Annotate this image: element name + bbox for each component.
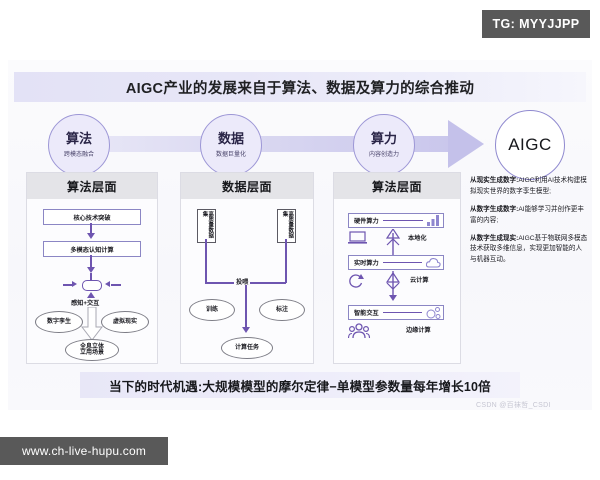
arrow-down-icon — [87, 233, 95, 239]
node-multimodal-cognition: 多模态认知计算 — [43, 241, 141, 257]
flow-arrow-row: 算法 跨模态融合 数据 数据巨量化 算力 内容创造力 AIGC — [8, 108, 592, 178]
arrow-head-icon — [448, 120, 484, 168]
label-localization: 本地化 — [408, 233, 427, 242]
footer-url-bar: www.ch-live-hupu.com — [0, 437, 168, 465]
infographic-canvas: AIGC产业的发展来自于算法、数据及算力的综合推动 算法 跨模态融合 数据 数据… — [8, 60, 592, 410]
csdn-watermark: CSDN @百袜哲_CSDI — [476, 400, 551, 410]
tg-badge-label: TG: MYYJJPP — [492, 17, 579, 31]
node-hardware-compute: 硬件算力 — [348, 213, 444, 228]
note-lead: 从数字生成数字: — [470, 206, 518, 213]
node-hardware-compute-label: 硬件算力 — [354, 216, 379, 225]
people-icon — [348, 323, 372, 339]
node-compute-task: 计算任务 — [221, 337, 273, 359]
node-smart-interaction: 智能交互 — [348, 305, 444, 320]
node-dataset-right: 高质量数据集 — [277, 209, 296, 243]
notes-block: 从现实生成数字:AIGC利用AI技术构建模拟现实世界的数字孪生模型; 从数字生成… — [470, 176, 588, 273]
screenshot-root: TG: MYYJJPP AIGC产业的发展来自于算法、数据及算力的综合推动 算法… — [0, 0, 600, 480]
panel-compute-layer: 算法层面 硬件算力 本地化 — [333, 172, 461, 364]
node-realtime-compute-label: 实时算力 — [354, 258, 379, 267]
panel-body: 硬件算力 本地化 — [334, 199, 460, 363]
flow-node-subtitle: 数据巨量化 — [216, 149, 246, 158]
panel-data-layer: 数据层面 高质量数据集 高质量数据集 投喂 训练 标注 计算任务 — [180, 172, 314, 364]
flow-result-label: AIGC — [508, 135, 552, 155]
flow-node-title: 算法 — [66, 132, 92, 146]
note-item: 从数字生成数字:AI能够学习并创作更丰富的内容; — [470, 205, 588, 227]
panel-body: 高质量数据集 高质量数据集 投喂 训练 标注 计算任务 — [181, 199, 313, 363]
node-holographic-scene-label: 全息立体立用场景 — [80, 344, 104, 357]
connector — [383, 220, 423, 221]
refresh-icon — [348, 273, 366, 289]
label-perception-interaction: 感知+交互 — [71, 298, 99, 307]
arrow-down-icon — [242, 327, 250, 333]
node-annotation: 标注 — [259, 299, 305, 321]
node-network-icon — [426, 307, 441, 319]
flow-node-data: 数据 数据巨量化 — [200, 114, 262, 176]
note-lead: 从现实生成数字: — [470, 177, 518, 184]
panel-header: 算法层面 — [334, 173, 460, 199]
connector — [383, 262, 422, 263]
flow-result-aigc: AIGC — [495, 110, 565, 180]
bottom-highlight-band: 当下的时代机遇:大规模模型的摩尔定律−单模型参数量每年增长10倍 — [80, 372, 520, 398]
flow-node-subtitle: 内容创造力 — [369, 149, 399, 158]
note-item: 从现实生成数字:AIGC利用AI技术构建模拟现实世界的数字孪生模型; — [470, 176, 588, 198]
cloud-icon — [426, 257, 441, 268]
panel-heading-label: 算法层面 — [67, 178, 117, 195]
panel-body: 核心技术突破 多模态认知计算 感知+交互 数字孪生 虚拟现实 — [27, 199, 157, 363]
note-item: 从数字生成现实:AIGC基于物联网多模态技术获取多维信息，实现更加智能的人与机器… — [470, 234, 588, 267]
connector — [111, 284, 121, 286]
arrow-left-icon — [105, 281, 110, 287]
panel-algorithm-layer: 算法层面 核心技术突破 多模态认知计算 感知+交互 数字孪生 虚拟现实 — [26, 172, 158, 364]
page-title: AIGC产业的发展来自于算法、数据及算力的综合推动 — [126, 77, 474, 98]
double-arrow-up-icon — [384, 229, 402, 255]
label-feed: 投喂 — [234, 277, 250, 286]
connector — [205, 239, 207, 283]
node-realtime-compute: 实时算力 — [348, 255, 444, 270]
flow-node-subtitle: 跨模态融合 — [64, 149, 94, 158]
infographic-title-band: AIGC产业的发展来自于算法、数据及算力的综合推动 — [14, 72, 586, 102]
note-lead: 从数字生成现实: — [470, 235, 518, 242]
node-holographic-scene: 全息立体立用场景 — [65, 339, 119, 361]
panel-header: 数据层面 — [181, 173, 313, 199]
connector — [285, 239, 287, 283]
flow-node-compute: 算力 内容创造力 — [353, 114, 415, 176]
node-dataset-left: 高质量数据集 — [197, 209, 216, 243]
connector — [245, 285, 247, 329]
panel-heading-label: 数据层面 — [222, 178, 272, 195]
laptop-icon — [348, 231, 368, 245]
panel-heading-label: 算法层面 — [372, 178, 422, 195]
label-edge-computing: 边缘计算 — [406, 325, 431, 334]
big-down-arrow-icon — [81, 307, 103, 341]
node-core-tech: 核心技术突破 — [43, 209, 141, 225]
footer-url-label: www.ch-live-hupu.com — [22, 444, 146, 458]
tg-badge: TG: MYYJJPP — [482, 10, 590, 38]
flow-node-title: 数据 — [218, 132, 244, 146]
label-cloud-computing: 云计算 — [410, 275, 429, 284]
connector — [383, 312, 422, 313]
flow-node-title: 算力 — [371, 132, 397, 146]
flow-node-algorithm: 算法 跨模态融合 — [48, 114, 110, 176]
bar-chart-icon — [427, 215, 441, 226]
node-digital-twin: 数字孪生 — [35, 311, 83, 333]
node-virtual-reality: 虚拟现实 — [101, 311, 149, 333]
bottom-band-label: 当下的时代机遇:大规模模型的摩尔定律−单模型参数量每年增长10倍 — [109, 376, 491, 395]
connector — [63, 284, 73, 286]
panel-header: 算法层面 — [27, 173, 157, 199]
node-hub-pill — [82, 280, 102, 291]
double-arrow-down-icon — [384, 271, 402, 301]
node-training: 训练 — [189, 299, 235, 321]
node-smart-interaction-label: 智能交互 — [354, 308, 379, 317]
